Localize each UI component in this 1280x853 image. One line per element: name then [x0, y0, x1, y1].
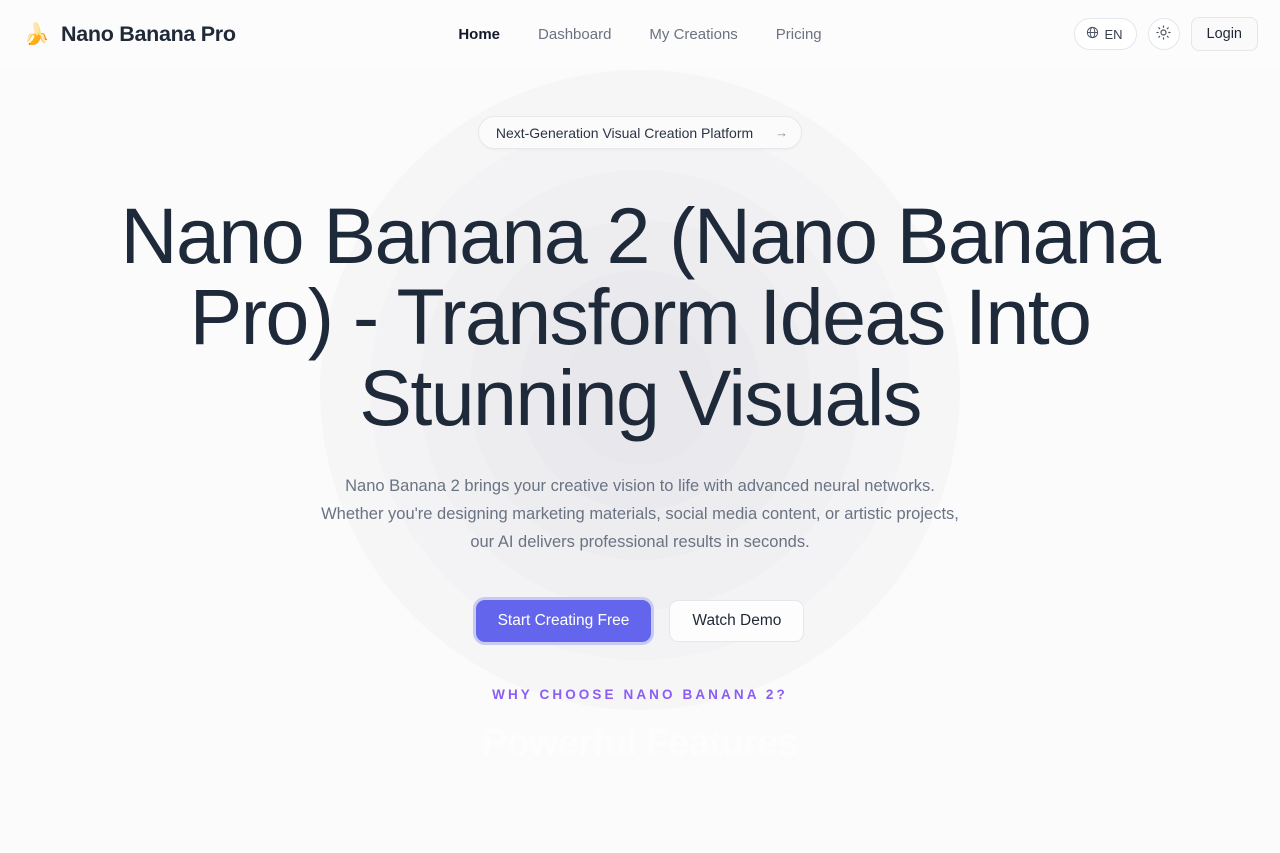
- hero-badge[interactable]: Next-Generation Visual Creation Platform…: [478, 116, 802, 149]
- language-label: EN: [1104, 27, 1122, 42]
- main-nav: Home Dashboard My Creations Pricing: [458, 26, 821, 43]
- banana-icon: 🍌: [24, 21, 50, 47]
- theme-toggle-button[interactable]: [1148, 18, 1180, 50]
- globe-icon: [1086, 26, 1099, 42]
- login-button[interactable]: Login: [1191, 17, 1258, 51]
- watch-demo-button[interactable]: Watch Demo: [669, 600, 804, 642]
- nav-item-home[interactable]: Home: [458, 26, 500, 43]
- hero-badge-label: Next-Generation Visual Creation Platform: [496, 125, 753, 141]
- site-header: 🍌 Nano Banana Pro Home Dashboard My Crea…: [0, 0, 1280, 68]
- brand-name: Nano Banana Pro: [61, 22, 236, 47]
- features-heading: Powerful Features: [0, 722, 1280, 765]
- hero-subtitle: Nano Banana 2 brings your creative visio…: [316, 472, 964, 556]
- nav-item-dashboard[interactable]: Dashboard: [538, 26, 611, 43]
- nav-item-my-creations[interactable]: My Creations: [649, 26, 737, 43]
- start-creating-free-button[interactable]: Start Creating Free: [476, 600, 652, 642]
- sun-icon: [1156, 25, 1171, 43]
- nav-item-pricing[interactable]: Pricing: [776, 26, 822, 43]
- arrow-right-icon: →: [775, 126, 788, 139]
- header-actions: EN Login: [1074, 17, 1260, 51]
- hero-headline: Nano Banana 2 (Nano Banana Pro) - Transf…: [120, 195, 1160, 438]
- hero-cta-group: Start Creating Free Watch Demo: [476, 600, 805, 642]
- language-selector[interactable]: EN: [1074, 18, 1136, 50]
- features-section: Why Choose Nano Banana 2? Powerful Featu…: [0, 642, 1280, 765]
- hero-section: Next-Generation Visual Creation Platform…: [0, 68, 1280, 788]
- features-eyebrow: Why Choose Nano Banana 2?: [0, 687, 1280, 702]
- brand-logo[interactable]: 🍌 Nano Banana Pro: [20, 21, 236, 47]
